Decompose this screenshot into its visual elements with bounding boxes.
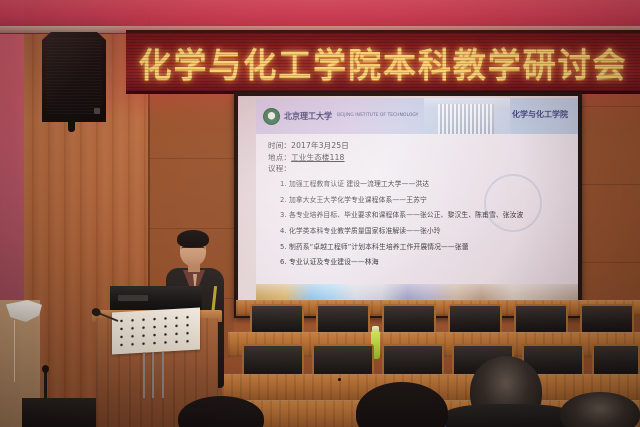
agenda-item: 1. 加强工程教育认证 建设一流理工大学——洪达 xyxy=(280,180,570,189)
glasses-icon xyxy=(181,247,205,253)
wall-speaker-icon xyxy=(42,32,106,122)
seat xyxy=(514,304,568,334)
seat xyxy=(382,344,444,378)
slide-meta-time: 时间：2017年3月25日 xyxy=(268,140,570,152)
projection-screen: 北京理工大学 BEIJING INSTITUTE OF TECHNOLOGY 化… xyxy=(234,92,582,318)
slide-header: 北京理工大学 BEIJING INSTITUTE OF TECHNOLOGY 化… xyxy=(256,98,578,134)
meta-agenda-label: 议程： xyxy=(268,164,291,173)
speaker-mount-bracket xyxy=(68,120,75,132)
perforated-panel xyxy=(112,308,200,355)
panel-perforations xyxy=(116,313,196,349)
floor-microphone xyxy=(44,370,47,400)
seat xyxy=(382,304,436,334)
agenda-item: 4. 化学类本科专业教学质量国家标准解读——张小玲 xyxy=(280,227,570,236)
slide-body: 时间：2017年3月25日 地点：工业生态楼118 议程： 1. 加强工程教育认… xyxy=(256,134,578,284)
ambient-light-wash-left xyxy=(0,0,24,300)
screen-surface: 北京理工大学 BEIJING INSTITUTE OF TECHNOLOGY 化… xyxy=(238,96,578,314)
seat xyxy=(312,344,374,378)
floor-equipment-box xyxy=(22,398,106,427)
agenda-item: 3. 各专业培养目标、毕业要求和课程体系——张公正、黎汉生、陈甫雪、张汝波 xyxy=(280,211,570,220)
audience-head-edge xyxy=(338,378,341,381)
presenter-hair xyxy=(177,230,209,248)
seat xyxy=(448,304,502,334)
banner-title: 化学与化工学院本科教学研讨会 xyxy=(139,38,628,87)
speaker-grille xyxy=(46,38,102,114)
campus-photo-thumbnail xyxy=(424,98,510,134)
meta-time-value: 2017年3月25日 xyxy=(291,141,349,150)
fixture-cable xyxy=(14,320,15,382)
seat xyxy=(316,304,370,334)
slide-meta-place: 地点：工业生态楼118 xyxy=(268,152,570,164)
equipment-panel-strip xyxy=(118,295,148,301)
agenda-list: 1. 加强工程教育认证 建设一流理工大学——洪达 2. 加拿大女王大学化学专业课… xyxy=(268,180,570,268)
slide-meta-agenda-label: 议程： xyxy=(268,163,570,175)
seat xyxy=(580,304,634,334)
thermos-cap xyxy=(372,326,379,332)
meta-time-label: 时间： xyxy=(268,141,291,150)
lecture-hall-photo: 化学与化工学院本科教学研讨会 北京理工大学 BEIJING INSTITUTE … xyxy=(0,0,640,427)
led-banner: 化学与化工学院本科教学研讨会 xyxy=(126,30,640,94)
college-name: 化学与化工学院 xyxy=(512,109,568,120)
meta-place-value: 工业生态楼118 xyxy=(291,153,344,162)
university-seal-icon xyxy=(263,108,280,125)
presentation-slide: 北京理工大学 BEIJING INSTITUTE OF TECHNOLOGY 化… xyxy=(256,98,578,314)
university-name-en: BEIJING INSTITUTE OF TECHNOLOGY xyxy=(337,113,418,119)
seat xyxy=(242,344,304,378)
speaker-indicator xyxy=(94,108,100,114)
agenda-item: 2. 加拿大女王大学化学专业课程体系——王苏宁 xyxy=(280,196,570,205)
seat xyxy=(592,344,640,378)
seat xyxy=(250,304,304,334)
agenda-item: 5. 制药系“卓越工程师”计划本科生培养工作开展情况——张蕾 xyxy=(280,243,570,252)
agenda-item: 6. 专业认证及专业建设——林海 xyxy=(280,258,570,267)
podium-cables xyxy=(138,352,182,398)
audience-shoulders xyxy=(446,404,572,427)
university-name: 北京理工大学 xyxy=(284,110,332,122)
meta-place-label: 地点： xyxy=(268,153,291,162)
